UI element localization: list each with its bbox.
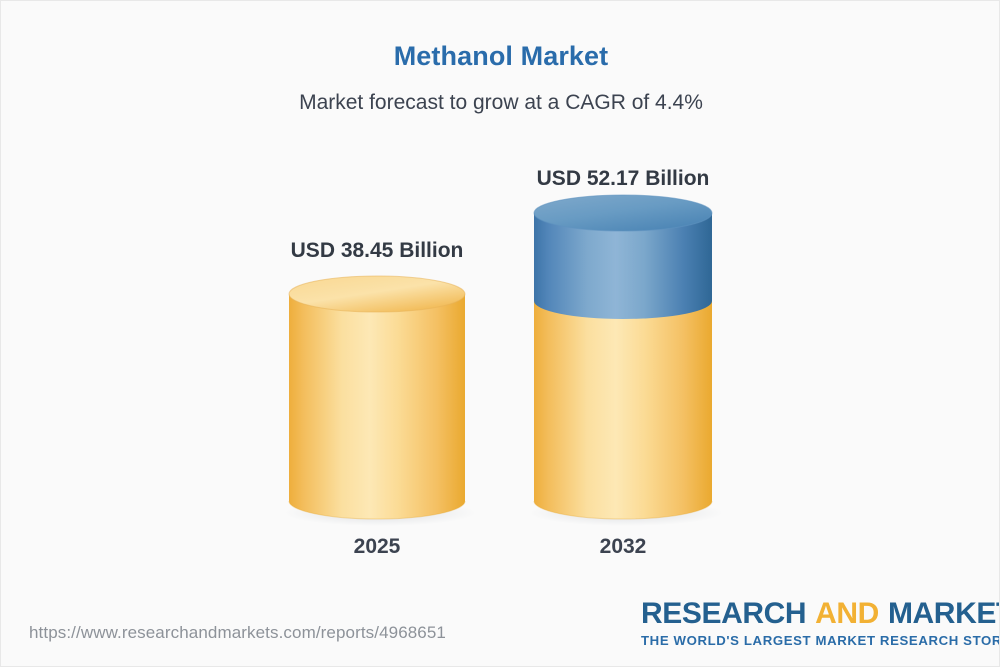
brand-word-markets: MARKETS	[888, 597, 1000, 630]
bar-body-2025	[289, 294, 465, 519]
chart-canvas: Methanol Market Market forecast to grow …	[0, 0, 1000, 667]
value-label-2025: USD 38.45 Billion	[227, 239, 527, 263]
brand-word-research: RESEARCH	[641, 597, 806, 630]
source-url-link[interactable]: https://www.researchandmarkets.com/repor…	[29, 623, 446, 643]
category-label-2032: 2032	[473, 535, 773, 559]
page-title: Methanol Market	[1, 41, 1000, 72]
bar-cylinder-2032	[522, 193, 724, 533]
brand-logo[interactable]: RESEARCHANDMARKETS THE WORLD'S LARGEST M…	[641, 599, 981, 648]
chart-subtitle: Market forecast to grow at a CAGR of 4.4…	[1, 91, 1000, 115]
bar-cylinder-2025	[277, 270, 477, 532]
bar-body-base-2032	[534, 301, 712, 519]
value-label-2032: USD 52.17 Billion	[473, 167, 773, 191]
brand-word-and: AND	[815, 597, 879, 630]
brand-tagline: THE WORLD'S LARGEST MARKET RESEARCH STOR…	[641, 633, 981, 648]
brand-wordmark: RESEARCHANDMARKETS	[641, 599, 981, 629]
